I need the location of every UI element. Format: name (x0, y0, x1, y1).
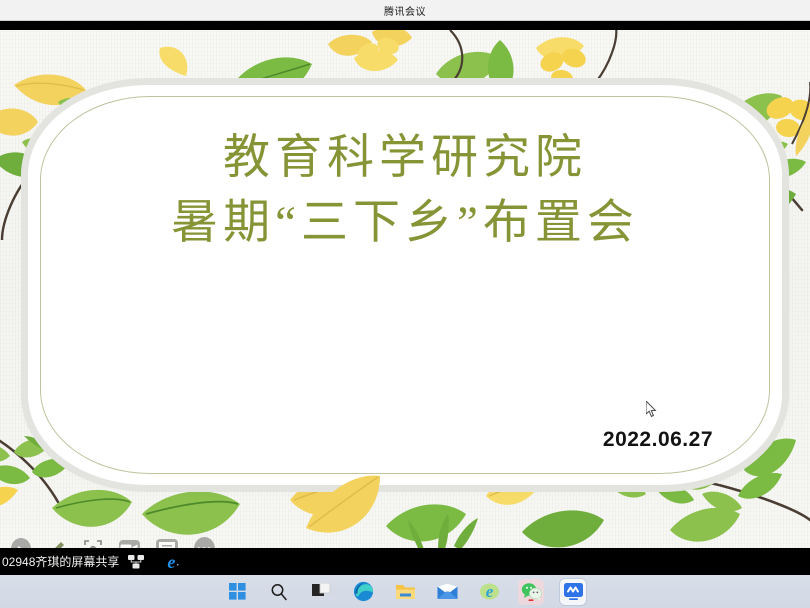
more-icon[interactable] (194, 537, 215, 548)
pen-icon[interactable] (47, 538, 67, 548)
edge-icon[interactable] (350, 579, 376, 605)
svg-text:e: e (485, 582, 493, 601)
window-title: 腾讯会议 (384, 3, 426, 18)
start-button[interactable] (224, 579, 250, 605)
slide-date: 2022.06.27 (603, 428, 713, 452)
screen-share-icon[interactable] (127, 554, 145, 570)
presenter-toolbar[interactable] (5, 530, 215, 548)
screen-share-label: 02948齐琪的屏幕共享 (2, 553, 119, 570)
tencent-meeting-icon[interactable] (560, 579, 586, 605)
slide-title-line2: 暑期“三下乡”布置会 (0, 191, 810, 256)
search-icon[interactable] (266, 579, 292, 605)
video-camera-icon[interactable] (119, 540, 140, 548)
window-title-bar: 腾讯会议 (0, 0, 810, 21)
play-icon[interactable] (11, 538, 31, 548)
internet-explorer-icon[interactable]: e (476, 579, 502, 605)
shared-screen-area: 教育科学研究院 暑期“三下乡”布置会 2022.06.27 (0, 30, 810, 548)
file-explorer-icon[interactable] (392, 579, 418, 605)
screen-share-bar: 02948齐琪的屏幕共享 e· (0, 548, 810, 575)
slide-title: 教育科学研究院 暑期“三下乡”布置会 (0, 126, 810, 256)
capture-frame-icon[interactable] (83, 538, 103, 548)
top-black-strip (0, 21, 810, 30)
internet-explorer-icon[interactable]: e· (167, 553, 179, 571)
mail-icon[interactable] (434, 579, 460, 605)
windows-taskbar: e (0, 575, 810, 608)
chat-icon[interactable] (156, 539, 177, 548)
mouse-cursor (646, 401, 658, 419)
slide-title-line1: 教育科学研究院 (223, 132, 587, 184)
screen-root: 腾讯会议 (0, 0, 810, 608)
task-view-icon[interactable] (308, 579, 334, 605)
wechat-icon[interactable] (518, 579, 544, 605)
